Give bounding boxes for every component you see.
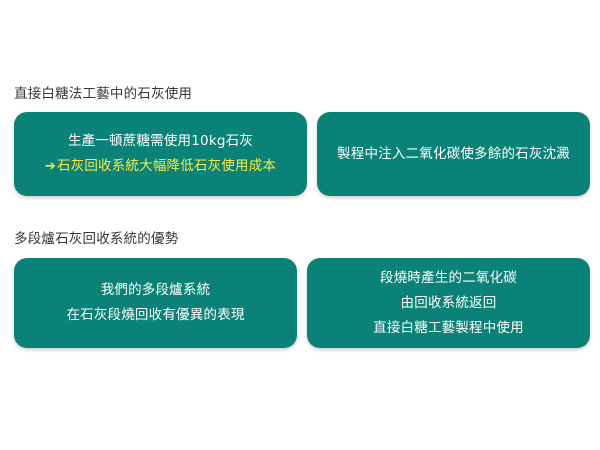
- slide-canvas: 直接白糖法工藝中的石灰使用 生產一頓蔗糖需使用10kg石灰 ➔石灰回收系統大幅降…: [0, 0, 600, 450]
- section-lime-usage: 直接白糖法工藝中的石灰使用 生產一頓蔗糖需使用10kg石灰 ➔石灰回收系統大幅降…: [0, 86, 600, 211]
- card-co2-recycling[interactable]: 段燒時產生的二氧化碳 由回收系統返回 直接白糖工藝製程中使用: [307, 258, 590, 348]
- card-line-highlight: ➔石灰回收系統大幅降低石灰使用成本: [45, 154, 276, 179]
- card-line-highlight-text: 石灰回收系統大幅降低石灰使用成本: [57, 158, 276, 174]
- card-line: 由回收系統返回: [401, 291, 497, 316]
- card-line: 製程中注入二氧化碳使多餘的石灰沈澱: [337, 142, 570, 167]
- section-heading-2: 多段爐石灰回收系統的優勢: [14, 231, 178, 248]
- section-multiple-hearth-advantages: 多段爐石灰回收系統的優勢 我們的多段爐系統 在石灰段燒回收有優異的表現 段燒時產…: [0, 231, 600, 351]
- card-our-system-performance[interactable]: 我們的多段爐系統 在石灰段燒回收有優異的表現: [14, 258, 297, 348]
- card-line: 段燒時產生的二氧化碳: [380, 266, 517, 291]
- section-heading-1: 直接白糖法工藝中的石灰使用: [14, 86, 192, 103]
- card-line: 我們的多段爐系統: [101, 278, 211, 303]
- card-line: 生產一頓蔗糖需使用10kg石灰: [68, 129, 253, 154]
- card-lime-consumption[interactable]: 生產一頓蔗糖需使用10kg石灰 ➔石灰回收系統大幅降低石灰使用成本: [14, 112, 307, 196]
- card-co2-injection[interactable]: 製程中注入二氧化碳使多餘的石灰沈澱: [317, 112, 590, 196]
- card-line: 直接白糖工藝製程中使用: [373, 316, 524, 341]
- card-line: 在石灰段燒回收有優異的表現: [66, 303, 244, 328]
- arrow-right-icon: ➔: [45, 154, 56, 179]
